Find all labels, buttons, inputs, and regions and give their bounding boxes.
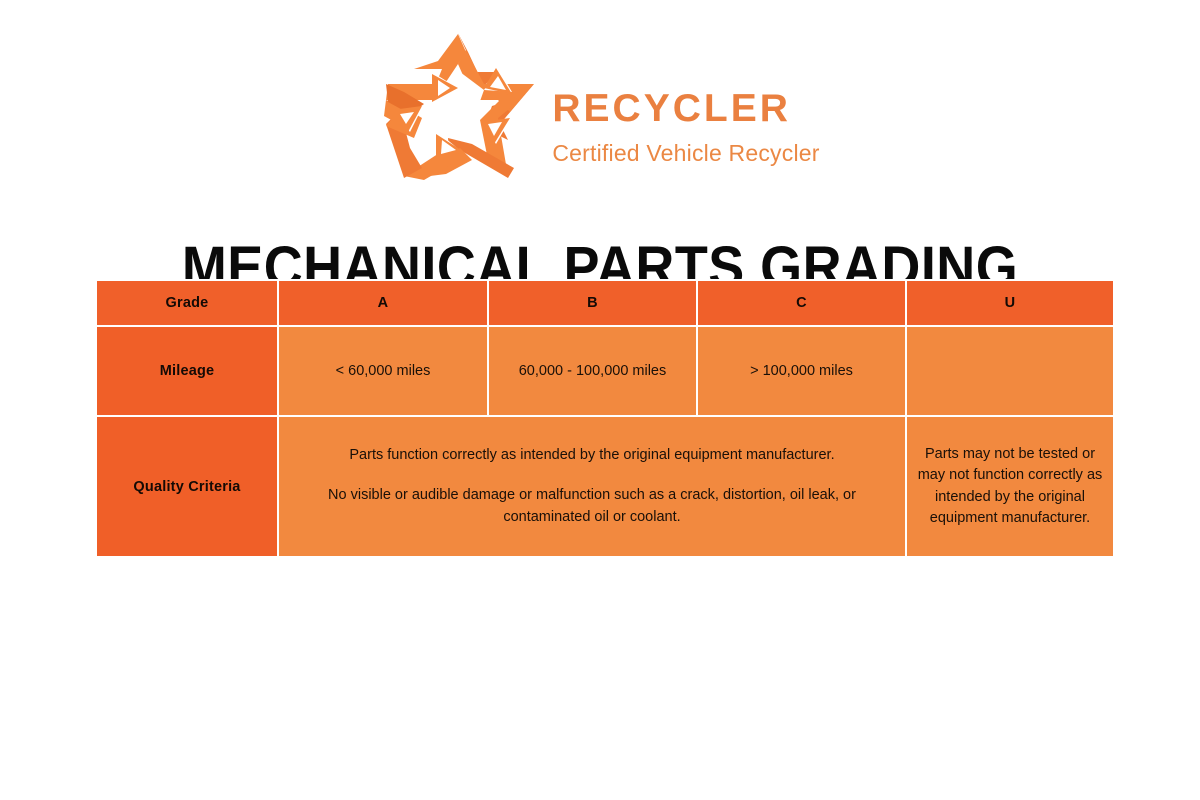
header-grade-a: A	[279, 281, 487, 325]
mechanical-parts-grading-table: Grade A B C U Mileage < 60,000 miles 60,…	[95, 279, 1115, 558]
brand-name: RECYCLER	[552, 89, 819, 128]
logo-inner: RECYCLER Certified Vehicle Recycler	[380, 28, 819, 180]
table-row-quality-criteria: Quality Criteria Parts function correctl…	[97, 417, 1113, 556]
mileage-grade-a: < 60,000 miles	[279, 327, 487, 415]
grading-poster: RECYCLER Certified Vehicle Recycler MECH…	[0, 0, 1200, 800]
quality-criteria-abc-line-2: No visible or audible damage or malfunct…	[297, 484, 887, 529]
row-label-mileage: Mileage	[97, 327, 277, 415]
mileage-grade-b: 60,000 - 100,000 miles	[489, 327, 696, 415]
mileage-grade-u	[907, 327, 1113, 415]
header-grade: Grade	[97, 281, 277, 325]
brand-tagline: Certified Vehicle Recycler	[552, 142, 819, 165]
header-grade-b: B	[489, 281, 696, 325]
quality-criteria-u: Parts may not be tested or may not funct…	[907, 417, 1113, 556]
header-grade-u: U	[907, 281, 1113, 325]
table-row-mileage: Mileage < 60,000 miles 60,000 - 100,000 …	[97, 327, 1113, 415]
row-label-quality-criteria: Quality Criteria	[97, 417, 277, 556]
quality-criteria-u-line-1: Parts may not be tested or may not funct…	[917, 444, 1103, 530]
quality-criteria-abc-line-1: Parts function correctly as intended by …	[297, 444, 887, 466]
quality-criteria-abc: Parts function correctly as intended by …	[279, 417, 905, 556]
recycler-star-logo-icon	[380, 28, 542, 180]
brand-logo: RECYCLER Certified Vehicle Recycler	[0, 28, 1200, 180]
header-grade-c: C	[698, 281, 905, 325]
mileage-grade-c: > 100,000 miles	[698, 327, 905, 415]
logo-wordmark: RECYCLER Certified Vehicle Recycler	[552, 43, 819, 165]
table-header-row: Grade A B C U	[97, 281, 1113, 325]
